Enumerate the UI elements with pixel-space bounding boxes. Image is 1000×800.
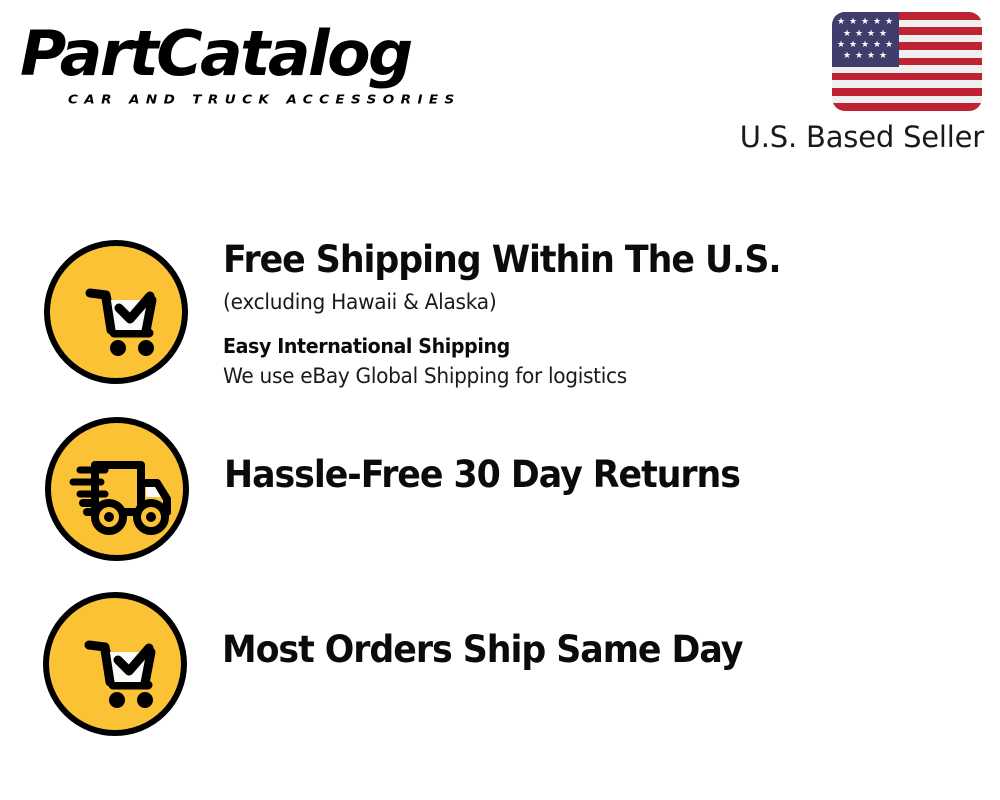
brand-tagline: CAR AND TRUCK ACCESSORIES <box>68 93 461 108</box>
brand-wordmark: PartCatalog <box>20 22 499 86</box>
shopping-cart-check-icon <box>41 590 189 738</box>
feature-note: (excluding Hawaii & Alaska) <box>223 287 969 317</box>
header: PartCatalog CAR AND TRUCK ACCESSORIES ★ … <box>0 0 1000 170</box>
delivery-truck-icon <box>43 415 191 563</box>
feature-subtext: We use eBay Global Shipping for logistic… <box>223 362 969 391</box>
flag-canton: ★ ★ ★ ★ ★ ★ ★ ★ ★ ★ ★ ★ ★ ★ ★ ★ ★ <box>832 12 899 67</box>
feature-text: Free Shipping Within The U.S. (excluding… <box>190 238 1000 391</box>
us-flag-icon: ★ ★ ★ ★ ★ ★ ★ ★ ★ ★ ★ ★ ★ ★ ★ ★ ★ <box>832 12 982 111</box>
us-based-seller-label: U.S. Based Seller <box>740 120 984 154</box>
brand-logo[interactable]: PartCatalog CAR AND TRUCK ACCESSORIES <box>20 22 490 112</box>
feature-row: Most Orders Ship Same Day <box>0 590 1000 738</box>
feature-title: Most Orders Ship Same Day <box>222 628 953 672</box>
feature-title: Hassle-Free 30 Day Returns <box>224 453 953 497</box>
feature-text: Most Orders Ship Same Day <box>189 590 1000 672</box>
feature-row: Hassle-Free 30 Day Returns <box>0 415 1000 563</box>
feature-title: Free Shipping Within The U.S. <box>223 238 953 282</box>
feature-text: Hassle-Free 30 Day Returns <box>191 415 1000 497</box>
feature-subheading: Easy International Shipping <box>223 333 961 360</box>
us-based-seller-badge: ★ ★ ★ ★ ★ ★ ★ ★ ★ ★ ★ ★ ★ ★ ★ ★ ★ <box>712 8 992 158</box>
feature-row: Free Shipping Within The U.S. (excluding… <box>0 238 1000 391</box>
shopping-cart-check-icon <box>42 238 190 386</box>
promo-banner: PartCatalog CAR AND TRUCK ACCESSORIES ★ … <box>0 0 1000 800</box>
